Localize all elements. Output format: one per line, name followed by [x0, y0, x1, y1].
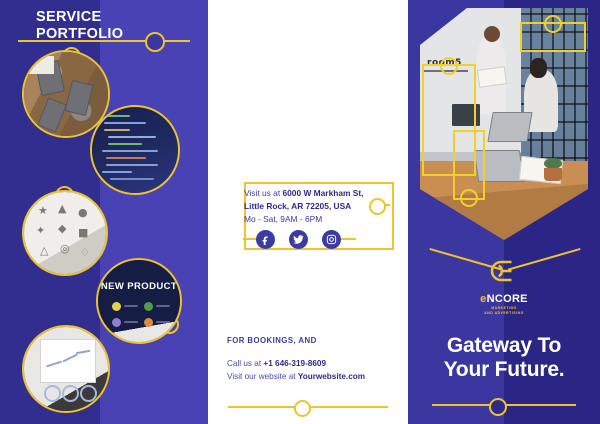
left-band-light: [100, 0, 208, 424]
address-street: 6000 W Markham St,: [282, 188, 363, 198]
photo-logo-sketches-notebook: ★ ▲ ● ✦ ◆ ■ △ ◎ ♢: [22, 190, 108, 276]
social-links: [256, 230, 341, 249]
highlight-circle-left: [440, 57, 458, 75]
logo-tagline-line2: AND ADVERTISING: [408, 311, 600, 316]
logo-block: eNCORE MARKETING AND ADVERTISING: [408, 256, 600, 316]
right-footer-circle-icon: [489, 398, 507, 416]
phone-number[interactable]: +1 646-319-8609: [263, 359, 326, 368]
website-link[interactable]: Yourwebsite.com: [298, 372, 365, 381]
hero-plant-pot: [544, 168, 562, 181]
cover-headline-line1: Gateway To: [408, 334, 600, 358]
portfolio-title-line1: SERVICE: [36, 9, 123, 26]
bookings-heading: FOR BOOKINGS, AND: [227, 336, 317, 345]
hero-person-seated-head: [530, 58, 547, 78]
portfolio-title: SERVICE PORTFOLIO: [36, 9, 123, 43]
address-card-circle-icon: [369, 198, 386, 215]
panel-left-portfolio: SERVICE PORTFOLIO: [0, 0, 208, 424]
cover-headline: Gateway To Your Future.: [408, 334, 600, 382]
title-divider-circle-icon: [145, 32, 165, 52]
hero-paper-sheet: [477, 66, 507, 88]
twitter-icon[interactable]: [289, 230, 308, 249]
hero-person-standing-head: [484, 26, 500, 42]
photo-texture: [92, 107, 178, 193]
middle-footer-circle-icon: [294, 400, 311, 417]
photo-texture: ★ ▲ ● ✦ ◆ ■ △ ◎ ♢: [24, 192, 106, 274]
encore-logo-icon: [489, 256, 519, 286]
call-prefix: Call us at: [227, 359, 263, 368]
logo-tagline: MARKETING AND ADVERTISING: [408, 306, 600, 316]
photo-analytics-dashboard-tablet: [22, 325, 110, 413]
address-hours: Mo - Sat, 9AM - 6PM: [244, 214, 322, 224]
instagram-icon[interactable]: [322, 230, 341, 249]
photo-texture: NEW PRODUCT: [98, 260, 180, 342]
address-city-state-zip: Little Rock, AR 72205, USA: [244, 201, 351, 211]
facebook-icon[interactable]: [256, 230, 275, 249]
address-text: Visit us at 6000 W Markham St, Little Ro…: [244, 187, 384, 226]
hero-laptop-center: [487, 112, 532, 142]
website-prefix: Visit our website at: [227, 372, 298, 381]
photo-source-code-screen: [90, 105, 180, 195]
new-product-caption: NEW PRODUCT: [98, 281, 180, 292]
social-rule-left: [243, 238, 257, 240]
address-prefix: Visit us at: [244, 188, 282, 198]
photo-texture: [24, 327, 108, 411]
brochure-page: SERVICE PORTFOLIO: [0, 0, 600, 424]
highlight-circle-bottom: [460, 189, 478, 207]
cover-headline-line2: Your Future.: [408, 358, 600, 382]
photo-new-product-presentation: NEW PRODUCT: [96, 258, 182, 344]
logo-wordmark-main: NCORE: [487, 293, 528, 305]
contact-details: Call us at +1 646-319-8609 Visit our web…: [227, 357, 365, 383]
logo-wordmark: eNCORE: [408, 293, 600, 305]
highlight-circle-top: [544, 15, 562, 33]
